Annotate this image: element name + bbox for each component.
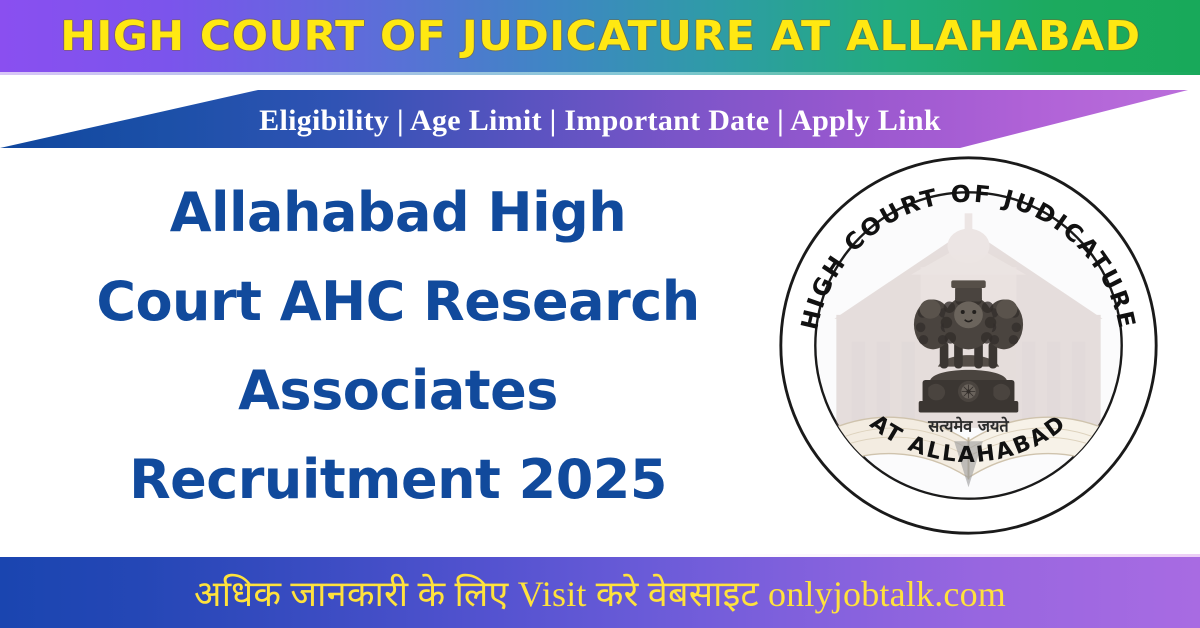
sub-banner-label: Eligibility | Age Limit | Important Date… (0, 78, 1200, 156)
page-title-line-3: Associates (48, 346, 748, 435)
poster-canvas: HIGH COURT OF JUDICATURE AT ALLAHABAD El… (0, 0, 1200, 628)
bottom-bar-website-text[interactable]: अधिक जानकारी के लिए Visit करे वेबसाइट on… (194, 568, 1006, 617)
page-title-line-1: Allahabad High (48, 168, 748, 257)
top-banner-title: HIGH COURT OF JUDICATURE AT ALLAHABAD (60, 12, 1140, 60)
bottom-bar: अधिक जानकारी के लिए Visit करे वेबसाइट on… (0, 557, 1200, 628)
sub-banner: Eligibility | Age Limit | Important Date… (0, 78, 1200, 156)
allahabad-high-court-logo: सत्यमेव जयते HIGH COURT OF JUDICATURE AT… (777, 154, 1160, 537)
top-banner-underline (0, 72, 1200, 75)
top-banner: HIGH COURT OF JUDICATURE AT ALLAHABAD (0, 0, 1200, 72)
emblem-icon: सत्यमेव जयते HIGH COURT OF JUDICATURE AT… (777, 154, 1160, 537)
page-title: Allahabad High Court AHC Research Associ… (48, 168, 748, 524)
emblem-motto: सत्यमेव जयते (927, 417, 1009, 436)
page-title-line-4: Recruitment 2025 (48, 435, 748, 524)
ashoka-lion-capital-icon (914, 280, 1023, 412)
page-title-line-2: Court AHC Research (48, 257, 748, 346)
